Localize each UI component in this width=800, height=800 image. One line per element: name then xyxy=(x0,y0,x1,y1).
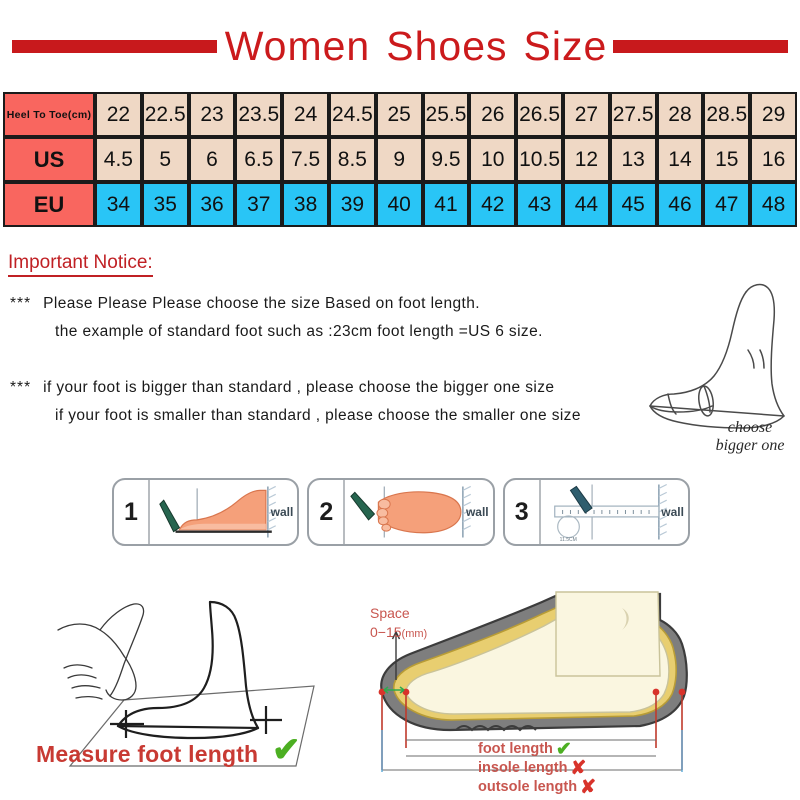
notice-line-1: ***Please Please Please choose the size … xyxy=(10,295,480,313)
page-title-word-3: Size xyxy=(524,23,608,69)
notice-line-3: ***if your foot is bigger than standard … xyxy=(10,379,554,397)
step-2-illustration: wall xyxy=(345,480,492,544)
cell-eu: 44 xyxy=(563,182,610,227)
important-notice-heading: Important Notice: xyxy=(8,252,153,277)
cell-eu: 34 xyxy=(95,182,142,227)
cell-us: 9 xyxy=(376,137,423,182)
title-bar-left xyxy=(12,40,217,53)
step-number-1: 1 xyxy=(114,480,150,544)
notice-stars: *** xyxy=(10,379,31,396)
cell-cm: 28.5 xyxy=(703,92,750,137)
cell-eu: 42 xyxy=(469,182,516,227)
notice-stars: *** xyxy=(10,295,31,312)
cell-us: 6 xyxy=(189,137,236,182)
cell-eu: 48 xyxy=(750,182,797,227)
cell-us: 10.5 xyxy=(516,137,563,182)
cell-cm: 29 xyxy=(750,92,797,137)
dimension-row-insole-length: insole length ✘ xyxy=(478,759,596,778)
step-1-illustration: wall xyxy=(150,480,297,544)
cell-cm: 22.5 xyxy=(142,92,189,137)
cell-eu: 40 xyxy=(376,182,423,227)
choose-bigger-line-2: bigger one xyxy=(700,437,800,455)
wall-label-1: wall xyxy=(271,505,294,519)
measurement-steps: 1 wall 2 xyxy=(112,478,690,546)
cell-us: 7.5 xyxy=(282,137,329,182)
cell-us: 12 xyxy=(563,137,610,182)
cross-icon: ✘ xyxy=(580,778,596,797)
notice-line-1-text: Please Please Please choose the size Bas… xyxy=(43,295,480,312)
cell-eu: 46 xyxy=(657,182,704,227)
cell-eu: 37 xyxy=(235,182,282,227)
step-number-3: 3 xyxy=(505,480,541,544)
cell-cm: 27 xyxy=(563,92,610,137)
cell-cm: 25 xyxy=(376,92,423,137)
cell-us: 10 xyxy=(469,137,516,182)
cell-eu: 45 xyxy=(610,182,657,227)
dimension-row-foot-length: foot length ✔ xyxy=(478,740,596,759)
page-title-word-2: Shoes xyxy=(386,23,507,69)
space-annotation: Space 0−15(mm) xyxy=(370,604,427,642)
cross-icon: ✘ xyxy=(570,759,586,778)
size-chart-table: Heel To Toe(cm) 22 22.5 23 23.5 24 24.5 … xyxy=(3,92,797,227)
row-header-eu: EU xyxy=(3,182,95,227)
dimension-row-outsole-length: outsole length ✘ xyxy=(478,778,596,797)
ruler-value-label: 11.5CM xyxy=(560,537,577,543)
wall-label-2: wall xyxy=(466,505,489,519)
step-panel-1: 1 wall xyxy=(112,478,299,546)
cell-cm: 24 xyxy=(282,92,329,137)
step-3-illustration: 11.5CM wall xyxy=(541,480,688,544)
cell-us: 6.5 xyxy=(235,137,282,182)
cell-cm: 23.5 xyxy=(235,92,282,137)
row-header-heel-to-toe: Heel To Toe(cm) xyxy=(3,92,95,137)
cell-cm: 26 xyxy=(469,92,516,137)
cell-us: 13 xyxy=(610,137,657,182)
row-header-us: US xyxy=(3,137,95,182)
cell-cm: 28 xyxy=(657,92,704,137)
notice-line-2: the example of standard foot such as :23… xyxy=(55,323,543,341)
dimension-label: insole length xyxy=(478,760,567,778)
table-row: EU 34 35 36 37 38 39 40 41 42 43 44 45 4… xyxy=(3,182,797,227)
cell-eu: 39 xyxy=(329,182,376,227)
cell-cm: 27.5 xyxy=(610,92,657,137)
cell-eu: 41 xyxy=(423,182,470,227)
cell-us: 14 xyxy=(657,137,704,182)
dimension-labels: foot length ✔ insole length ✘ outsole le… xyxy=(478,740,596,797)
cell-eu: 47 xyxy=(703,182,750,227)
cell-cm: 22 xyxy=(95,92,142,137)
page-title-row: WomenShoesSize xyxy=(0,18,800,74)
cell-us: 5 xyxy=(142,137,189,182)
check-icon: ✔ xyxy=(272,733,301,767)
cell-us: 4.5 xyxy=(95,137,142,182)
cell-cm: 24.5 xyxy=(329,92,376,137)
wall-label-3: wall xyxy=(661,505,684,519)
page-title-word-1: Women xyxy=(225,23,371,69)
title-bar-right xyxy=(613,40,788,53)
cell-cm: 23 xyxy=(189,92,236,137)
cell-us: 15 xyxy=(703,137,750,182)
step-panel-2: 2 wall xyxy=(307,478,494,546)
space-label-unit: (mm) xyxy=(402,628,428,640)
measure-foot-length-label: Measure foot length xyxy=(36,741,258,768)
dimension-label: outsole length xyxy=(478,779,577,797)
cell-cm: 26.5 xyxy=(516,92,563,137)
cell-eu: 35 xyxy=(142,182,189,227)
page-title: WomenShoesSize xyxy=(225,26,608,67)
choose-bigger-line-1: choose xyxy=(700,419,800,437)
table-row: Heel To Toe(cm) 22 22.5 23 23.5 24 24.5 … xyxy=(3,92,797,137)
cell-eu: 36 xyxy=(189,182,236,227)
notice-line-3-text: if your foot is bigger than standard , p… xyxy=(43,379,554,396)
notice-line-4: if your foot is smaller than standard , … xyxy=(55,407,581,425)
cell-us: 8.5 xyxy=(329,137,376,182)
cell-us: 16 xyxy=(750,137,797,182)
check-icon: ✔ xyxy=(556,740,572,759)
table-row: US 4.5 5 6 6.5 7.5 8.5 9 9.5 10 10.5 12 … xyxy=(3,137,797,182)
space-label-line-1: Space xyxy=(370,604,427,623)
step-number-2: 2 xyxy=(309,480,345,544)
space-label-value: 0−15 xyxy=(370,624,402,640)
cell-eu: 38 xyxy=(282,182,329,227)
cell-eu: 43 xyxy=(516,182,563,227)
step-panel-3: 3 xyxy=(503,478,690,546)
dimension-label: foot length xyxy=(478,741,553,759)
cell-us: 9.5 xyxy=(423,137,470,182)
choose-bigger-one-label: choose bigger one xyxy=(700,419,800,456)
cell-cm: 25.5 xyxy=(423,92,470,137)
